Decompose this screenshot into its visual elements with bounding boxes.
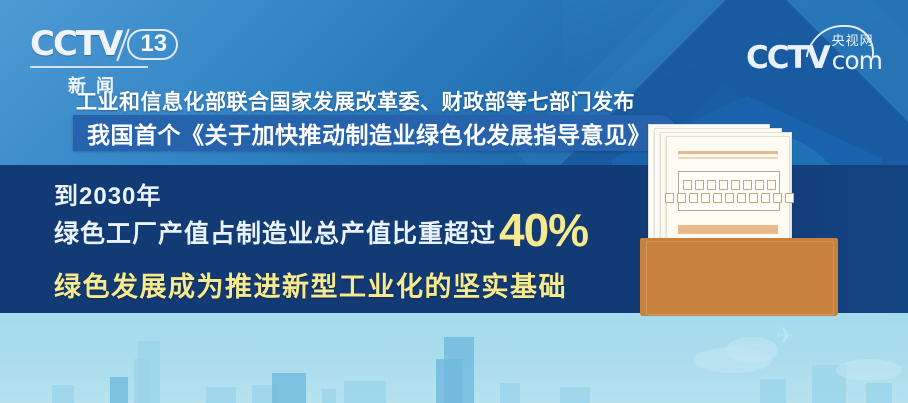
body-line-conclusion: 绿色发展成为推进新型工业化的坚实基础 — [54, 265, 567, 304]
folder-front-panel — [640, 238, 838, 316]
title-pill: 我国首个《关于加快推动制造业绿色化发展指导意见》 — [73, 115, 677, 151]
document-header-rule — [678, 151, 778, 154]
body-line-stat: 绿色工厂产值占制造业总产值比重超过 40% — [54, 206, 588, 250]
broadcast-news-graphic: ✈ CCTV 13 新闻 CCTV 央视网 com 工业和信息化部联合国家发展改… — [0, 0, 908, 403]
document-folder-illustration — [640, 120, 850, 316]
cctv13-wordmark: CCTV — [30, 24, 121, 64]
kicker-text: 工业和信息化部联合国家发展改革委、财政部等七部门发布 — [76, 86, 635, 116]
cctvcom-logo: CCTV 央视网 com — [746, 34, 882, 73]
airplane-icon: ✈ — [776, 325, 794, 347]
document-footer-bar — [678, 225, 778, 234]
document-glyph-row-2 — [665, 193, 794, 203]
document-header-rule-thin — [678, 157, 778, 159]
document-glyph-row-1 — [683, 180, 776, 190]
cctv13-channel-number: 13 — [127, 29, 178, 60]
title-pill-text: 我国首个《关于加快推动制造业绿色化发展指导意见》 — [87, 116, 651, 150]
background-city-skyline: ✈ — [0, 313, 908, 403]
document-title-box — [678, 171, 780, 211]
body-line-stat-text: 绿色工厂产值占制造业总产值比重超过 — [54, 214, 496, 250]
cctv13-underline — [30, 66, 148, 68]
stat-highlight-value: 40% — [499, 210, 588, 251]
